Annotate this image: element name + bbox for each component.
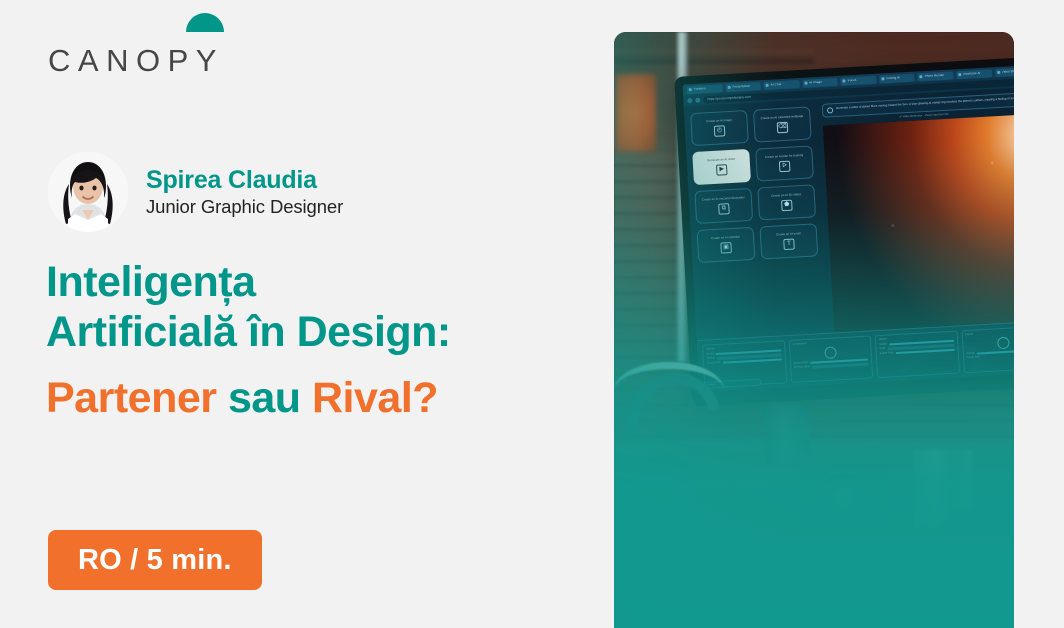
reload-icon[interactable]: [695, 98, 700, 103]
export-button[interactable]: Export Now: [967, 357, 981, 360]
tab-label: AI Image: [809, 81, 822, 85]
tab-favicon-icon: [881, 77, 884, 80]
action-card[interactable]: Create an AI 3D object ⬟: [757, 184, 816, 220]
author-block: Spirea Claudia Junior Graphic Designer: [48, 152, 343, 232]
tab-favicon-icon: [689, 88, 692, 91]
tab-favicon-icon: [843, 79, 846, 82]
card-label: Create an AI image: [706, 119, 732, 124]
settings-group[interactable]: Composition Aspect Ratio Moving Lights: [788, 335, 873, 383]
tab-favicon-icon: [727, 86, 730, 89]
monitor-screen: Portfolio Presentation AI Chat AI Image: [682, 65, 1014, 392]
export-dial-icon[interactable]: [997, 336, 1010, 349]
prompt-text: Generate a video of planet Mars moving t…: [836, 97, 1014, 111]
text-icon: T: [783, 238, 795, 250]
browser-tab[interactable]: AI Image: [802, 77, 838, 87]
tab-favicon-icon: [766, 84, 769, 87]
group-title: Motion: [879, 339, 887, 342]
image-icon: ◴: [714, 125, 726, 137]
subtitle-part-1: Partener: [46, 374, 216, 422]
back-icon[interactable]: [687, 98, 692, 103]
author-text: Spirea Claudia Junior Graphic Designer: [146, 166, 343, 219]
desktop-speaker: [799, 464, 887, 530]
monitor-stand: [762, 403, 811, 465]
photo-scene: Portfolio Presentation AI Chat AI Image: [614, 32, 1014, 628]
setting-slider[interactable]: [723, 358, 782, 364]
left-content-column: CANOPY: [0, 0, 614, 628]
tab-label: Coding AI: [886, 76, 900, 80]
settings-group[interactable]: Motion Speed Style Frame Rate: [875, 331, 960, 379]
horizontal-beam: [614, 50, 814, 64]
tab-label: Focus: [848, 79, 857, 82]
browser-tab[interactable]: Video Browse: [995, 67, 1014, 77]
setting-slider[interactable]: [812, 363, 869, 369]
card-label: Create an AI vectorial illustration: [702, 196, 745, 202]
tab-label: AI Chat: [771, 83, 782, 87]
action-card[interactable]: Create an AI email T: [759, 223, 818, 259]
url-text: https://yourpromptdesigns.com: [707, 96, 751, 102]
filter-icon: ᐅ: [779, 160, 791, 172]
browser-tab[interactable]: Illustrator AI: [956, 69, 992, 79]
card-label: Generate an AI video: [707, 158, 735, 163]
subtitle-part-2: sau: [228, 374, 301, 422]
setting-label: Style: [879, 348, 885, 351]
terminal-icon: ⌫: [777, 122, 789, 134]
action-card-selected[interactable]: Generate an AI video ▶: [692, 149, 751, 185]
tab-label: Presentation: [732, 85, 750, 89]
vector-icon: ⧉: [718, 203, 730, 215]
card-label: Create an AI 3D object: [771, 193, 801, 198]
page-subtitle: Partener sau Rival?: [46, 374, 586, 424]
setting-slider[interactable]: [895, 349, 954, 355]
action-card[interactable]: Create an AI image ◴: [690, 110, 749, 146]
card-label: Create an AI email: [776, 232, 801, 237]
tab-favicon-icon: [804, 82, 807, 85]
group-title: Composition: [793, 343, 808, 346]
dial-knob-icon[interactable]: [824, 346, 837, 359]
setting-slider[interactable]: [977, 349, 1014, 355]
card-label: Create an AI plan for training: [765, 154, 803, 160]
brand-wordmark: CANOPY: [48, 45, 224, 76]
setting-label: Output Size: [707, 362, 721, 365]
speaker-cone: [819, 473, 867, 521]
browser-tab[interactable]: AI Chat: [764, 80, 800, 90]
tab-label: Illustrator AI: [963, 72, 980, 76]
brand-logo[interactable]: CANOPY: [48, 30, 224, 76]
settings-group[interactable]: Export Format Export Now: [961, 326, 1014, 374]
play-icon: ▶: [716, 164, 728, 176]
action-card[interactable]: Create an AI plan for training ᐅ: [755, 145, 814, 181]
computer-monitor: Portfolio Presentation AI Chat AI Image: [674, 56, 1014, 406]
card-label: Create an AI calendar: [711, 236, 740, 241]
browser-tab[interactable]: Photo Render: [918, 71, 954, 81]
avatar: [48, 152, 128, 232]
group-title: Render: [706, 348, 715, 351]
browser-tab[interactable]: Focus: [841, 75, 877, 85]
grid-icon: ▣: [720, 242, 732, 254]
browser-tab[interactable]: Portfolio: [687, 84, 723, 94]
setting-label: Speed: [879, 343, 887, 346]
action-card[interactable]: Create an AI calendar ▣: [697, 227, 756, 263]
setting-label: Quality: [707, 357, 715, 360]
orange-glow-lamp: [616, 74, 656, 152]
page-title: Inteligența Artificială în Design:: [46, 258, 586, 358]
headline-line-1: Inteligența: [46, 258, 256, 306]
headphone-earcup: [634, 454, 696, 526]
author-role: Junior Graphic Designer: [146, 195, 343, 218]
card-label: Create an AI extended webpage: [761, 115, 804, 121]
setting-label: Frame Rate: [880, 352, 894, 355]
tab-label: Portfolio: [694, 87, 706, 91]
headphones: [620, 372, 740, 532]
sparkle-icon: [827, 107, 833, 113]
setting-label: Moving Lights: [794, 366, 810, 369]
group-title: Export: [965, 334, 973, 337]
browser-tab[interactable]: Coding AI: [879, 73, 915, 83]
canopy-dome-icon: [186, 13, 224, 32]
tab-favicon-icon: [920, 75, 923, 78]
action-card[interactable]: Create an AI vectorial illustration ⧉: [694, 188, 753, 224]
subtitle-part-3: Rival?: [312, 374, 438, 422]
tab-label: Photo Render: [925, 74, 945, 78]
tab-label: Video Browse: [1002, 70, 1014, 74]
browser-tab[interactable]: Presentation: [725, 82, 761, 92]
tab-favicon-icon: [997, 71, 1000, 74]
author-name: Spirea Claudia: [146, 166, 343, 196]
hero-photo: Portfolio Presentation AI Chat AI Image: [614, 32, 1014, 628]
headline-line-2: Artificială în Design:: [46, 308, 586, 358]
language-duration-badge[interactable]: RO / 5 min.: [48, 530, 262, 590]
cube-icon: ⬟: [781, 199, 793, 211]
action-card[interactable]: Create an AI extended webpage ⌫: [753, 106, 812, 142]
keyboard: [939, 510, 1014, 534]
tab-favicon-icon: [958, 73, 961, 76]
